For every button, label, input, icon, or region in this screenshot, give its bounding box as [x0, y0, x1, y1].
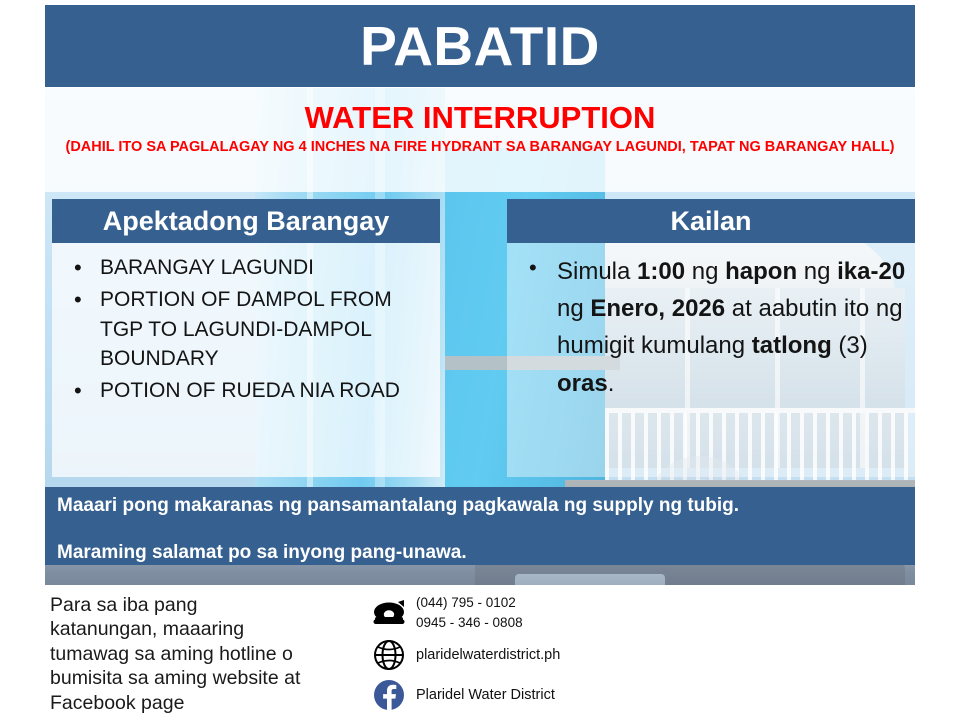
affected-barangay-body: BARANGAY LAGUNDI PORTION OF DAMPOL FROM …: [52, 243, 440, 477]
list-item: Simula 1:00 ng hapon ng ika-20 ng Enero,…: [513, 253, 909, 402]
subheading-note: (DAHIL ITO SA PAGLALAGAY NG 4 INCHES NA …: [45, 138, 915, 156]
affected-barangay-header: Apektadong Barangay: [52, 199, 440, 243]
facebook-icon: [372, 678, 406, 712]
schedule-header: Kailan: [507, 199, 915, 243]
footer-blurb-line: bumisita sa aming website at: [50, 666, 355, 690]
footer-blurb-line: tumawag sa aming hotline o: [50, 642, 355, 666]
footer-blurb: Para sa iba pang katanungan, maaaring tu…: [50, 593, 355, 715]
page-title: PABATID: [360, 19, 600, 74]
list-item: BARANGAY LAGUNDI: [58, 253, 434, 283]
contact-phone-line: 0945 - 346 - 0808: [416, 613, 523, 633]
schedule-panel: Kailan Simula 1:00 ng hapon ng ika-20 ng…: [507, 199, 915, 477]
notice-strip: Maaari pong makaranas ng pansamantalang …: [45, 487, 915, 565]
footer-blurb-line: Para sa iba pang: [50, 593, 355, 617]
notice-line-2: Maraming salamat po sa inyong pang-unawa…: [57, 541, 903, 565]
contact-facebook-text[interactable]: Plaridel Water District: [416, 685, 555, 706]
footer: Para sa iba pang katanungan, maaaring tu…: [0, 585, 960, 720]
affected-barangay-list: BARANGAY LAGUNDI PORTION OF DAMPOL FROM …: [58, 253, 434, 406]
schedule-list: Simula 1:00 ng hapon ng ika-20 ng Enero,…: [513, 253, 909, 402]
contact-phone: (044) 795 - 0102 0945 - 346 - 0808: [372, 593, 607, 632]
telephone-icon: [372, 596, 406, 630]
subheading-block: WATER INTERRUPTION (DAHIL ITO SA PAGLALA…: [45, 92, 915, 156]
title-banner: PABATID: [45, 5, 915, 87]
schedule-body: Simula 1:00 ng hapon ng ika-20 ng Enero,…: [507, 243, 915, 477]
footer-blurb-line: katanungan, maaaring: [50, 617, 355, 641]
globe-icon: [372, 638, 406, 672]
contact-phone-line: (044) 795 - 0102: [416, 593, 523, 613]
list-item: POTION OF RUEDA NIA ROAD: [58, 376, 434, 406]
list-item: PORTION OF DAMPOL FROM TGP TO LAGUNDI-DA…: [58, 285, 434, 374]
footer-blurb-line: Facebook page: [50, 691, 355, 715]
contact-facebook: Plaridel Water District: [372, 678, 607, 712]
announcement-poster: PABATID WATER INTERRUPTION (DAHIL ITO SA…: [0, 0, 960, 720]
affected-barangay-panel: Apektadong Barangay BARANGAY LAGUNDI POR…: [52, 199, 440, 477]
notice-line-1: Maaari pong makaranas ng pansamantalang …: [57, 494, 903, 518]
contact-list: (044) 795 - 0102 0945 - 346 - 0808 plari…: [372, 593, 607, 718]
contact-website-text[interactable]: plaridelwaterdistrict.ph: [416, 645, 560, 666]
contact-website: plaridelwaterdistrict.ph: [372, 638, 607, 672]
subheading-main: WATER INTERRUPTION: [45, 100, 915, 136]
